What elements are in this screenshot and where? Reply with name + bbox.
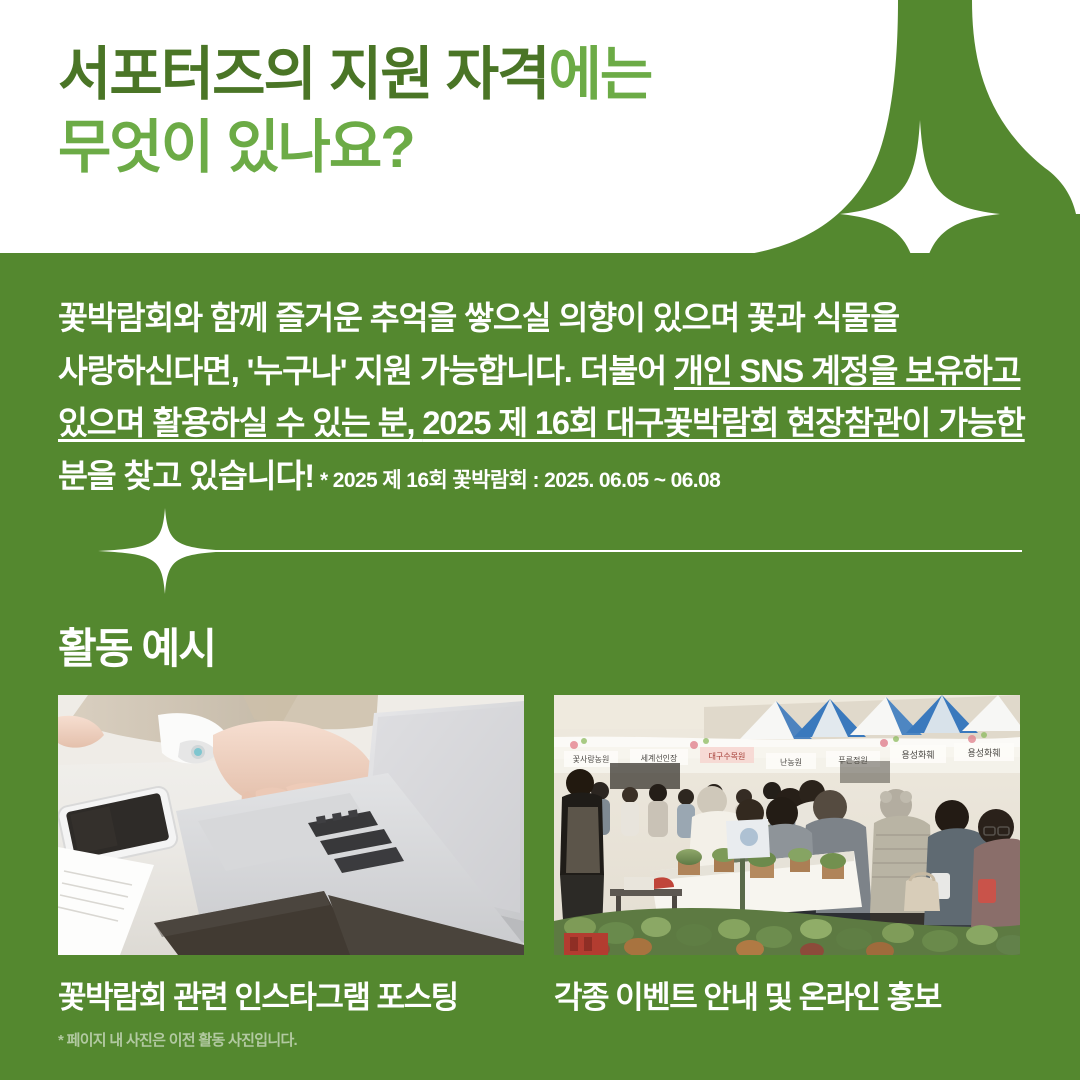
svg-text:용성화훼: 용성화훼: [967, 748, 1000, 758]
title-line-1-dark: 서포터즈의 지원 자격: [58, 42, 548, 107]
body-paragraph: 꽃박람회와 함께 즐거운 추억을 쌓으실 의향이 있으며 꽃과 식물을 사랑하신…: [58, 292, 1026, 503]
photo-laptop-typing: [58, 695, 524, 955]
card-header: 서포터즈의 지원 자격에는 무엇이 있나요?: [0, 0, 1080, 253]
photo-caption-left: 꽃박람회 관련 인스타그램 포스팅: [58, 972, 458, 1017]
title-line-2: 무엇이 있나요?: [58, 111, 858, 184]
section-heading: 활동 예시: [58, 615, 215, 676]
svg-text:용성화훼: 용성화훼: [901, 750, 934, 760]
svg-text:세계선인장: 세계선인장: [641, 753, 678, 763]
svg-text:대구수목원: 대구수목원: [709, 752, 746, 761]
body-segment-3-underlined: 2025 제 16회 대구꽃박람회 현장참관이 가능한: [422, 405, 1024, 441]
photo-caption-right: 각종 이벤트 안내 및 온라인 홍보: [554, 972, 941, 1017]
divider-line: [180, 550, 1022, 552]
photo-flower-expo-crowd: 꽃사랑농원 세계선인장 대구수목원 난농원 푸른정원 용성화훼 용성화훼: [554, 695, 1020, 955]
promo-card: 서포터즈의 지원 자격에는 무엇이 있나요? 꽃박람회와 함께 즐거운 추억을 …: [0, 0, 1080, 1080]
svg-text:꽃사랑농원: 꽃사랑농원: [573, 754, 610, 764]
photo-gallery: 꽃사랑농원 세계선인장 대구수목원 난농원 푸른정원 용성화훼 용성화훼: [58, 695, 1022, 955]
body-note: * 2025 제 16회 꽃박람회 : 2025. 06.05 ~ 06.08: [314, 469, 720, 492]
page-title: 서포터즈의 지원 자격에는 무엇이 있나요?: [58, 38, 858, 184]
svg-text:난농원: 난농원: [780, 758, 802, 767]
title-line-1: 서포터즈의 지원 자격에는: [58, 38, 858, 111]
body-segment-4: 분을 찾고 있습니다!: [58, 458, 314, 494]
divider: [58, 508, 1022, 594]
footnote: * 페이지 내 사진은 이전 활동 사진입니다.: [58, 1029, 297, 1050]
title-line-1-light: 에는: [548, 42, 651, 107]
